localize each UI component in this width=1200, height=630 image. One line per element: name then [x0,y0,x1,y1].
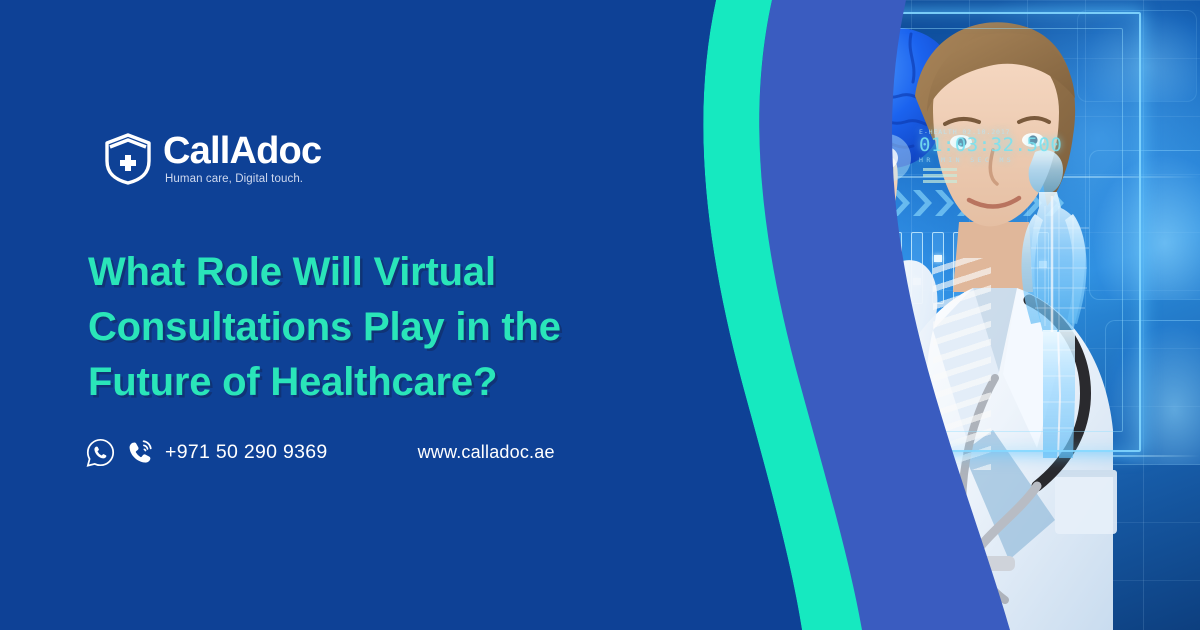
page-title: What Role Will Virtual Consultations Pla… [88,245,628,411]
whatsapp-icon[interactable] [86,438,115,467]
banner-root: E-HEALTH 02.10.2017 01:03:32.500 HR MIN … [0,0,1200,630]
brand-logo-text: CallAdoc Human care, Digital touch. [163,132,321,185]
brand-logo[interactable]: CallAdoc Human care, Digital touch. [104,132,321,185]
phone-number[interactable]: +971 50 290 9369 [165,441,328,464]
phone-ringing-icon[interactable] [125,438,154,467]
website-url[interactable]: www.calladoc.ae [418,442,555,463]
contact-row: +971 50 290 9369 www.calladoc.ae [86,438,555,467]
brand-name: CallAdoc [163,132,321,170]
content-column: CallAdoc Human care, Digital touch. What… [0,0,700,630]
brand-tagline: Human care, Digital touch. [165,173,321,185]
shield-medical-cross-icon [104,133,152,185]
